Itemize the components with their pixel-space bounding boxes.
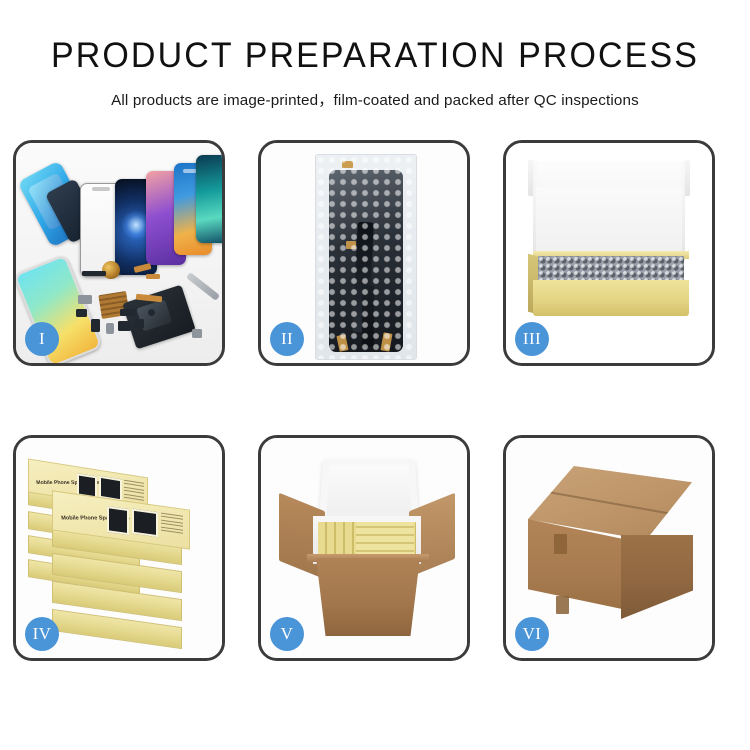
carton-tape-lower (556, 596, 569, 614)
vibration-motor-part (102, 261, 120, 279)
page-header: PRODUCT PREPARATION PROCESS All products… (0, 0, 750, 110)
screw-head-part (148, 309, 155, 316)
bubble-texture-overlay (316, 155, 416, 359)
foam-lid-open (319, 459, 419, 524)
process-step-grid: I II (13, 140, 737, 661)
taptic-engine-part (118, 321, 131, 331)
step-badge-6: VI (515, 617, 549, 651)
battery-connector-part (91, 319, 100, 332)
carton-tape-upper (554, 534, 567, 554)
foam-liner (536, 187, 682, 261)
process-step-5-panel[interactable]: V (258, 435, 470, 661)
process-step-1-panel[interactable]: I (13, 140, 225, 366)
step-badge-4: IV (25, 617, 59, 651)
box-window-front-2 (132, 509, 158, 538)
step-badge-2: II (270, 322, 304, 356)
process-step-2-panel[interactable]: II (258, 140, 470, 366)
page-title: PRODUCT PREPARATION PROCESS (11, 38, 739, 75)
sim-tray-part (106, 323, 114, 334)
speaker-part (82, 271, 106, 276)
box-window-front-1 (107, 506, 129, 535)
process-step-4-panel[interactable]: Mobile Phone Spare Parts Mobile Phone Sp… (13, 435, 225, 661)
step-badge-5: V (270, 617, 304, 651)
step-badge-3: III (515, 322, 549, 356)
connector-part-2 (76, 309, 87, 317)
camera-module-part (120, 309, 136, 316)
bubble-wrap-bag (315, 154, 417, 360)
carton-front-wall (309, 558, 427, 636)
screw-part (192, 329, 202, 338)
yellow-boxes-inside-stacked (356, 522, 414, 558)
box-front-yellow (533, 280, 689, 316)
process-step-6-panel[interactable]: VI (503, 435, 715, 661)
box-print-lines-front (161, 513, 183, 536)
flex-cable-copper-2 (146, 274, 160, 279)
process-step-3-panel[interactable]: III (503, 140, 715, 366)
earpiece-part (134, 319, 144, 328)
phone-screen-teal (196, 155, 222, 243)
connector-part-1 (78, 295, 92, 304)
step-badge-1: I (25, 322, 59, 356)
page-subtitle: All products are image-printed，film-coat… (0, 88, 750, 110)
box-print-lines-back (124, 480, 144, 504)
